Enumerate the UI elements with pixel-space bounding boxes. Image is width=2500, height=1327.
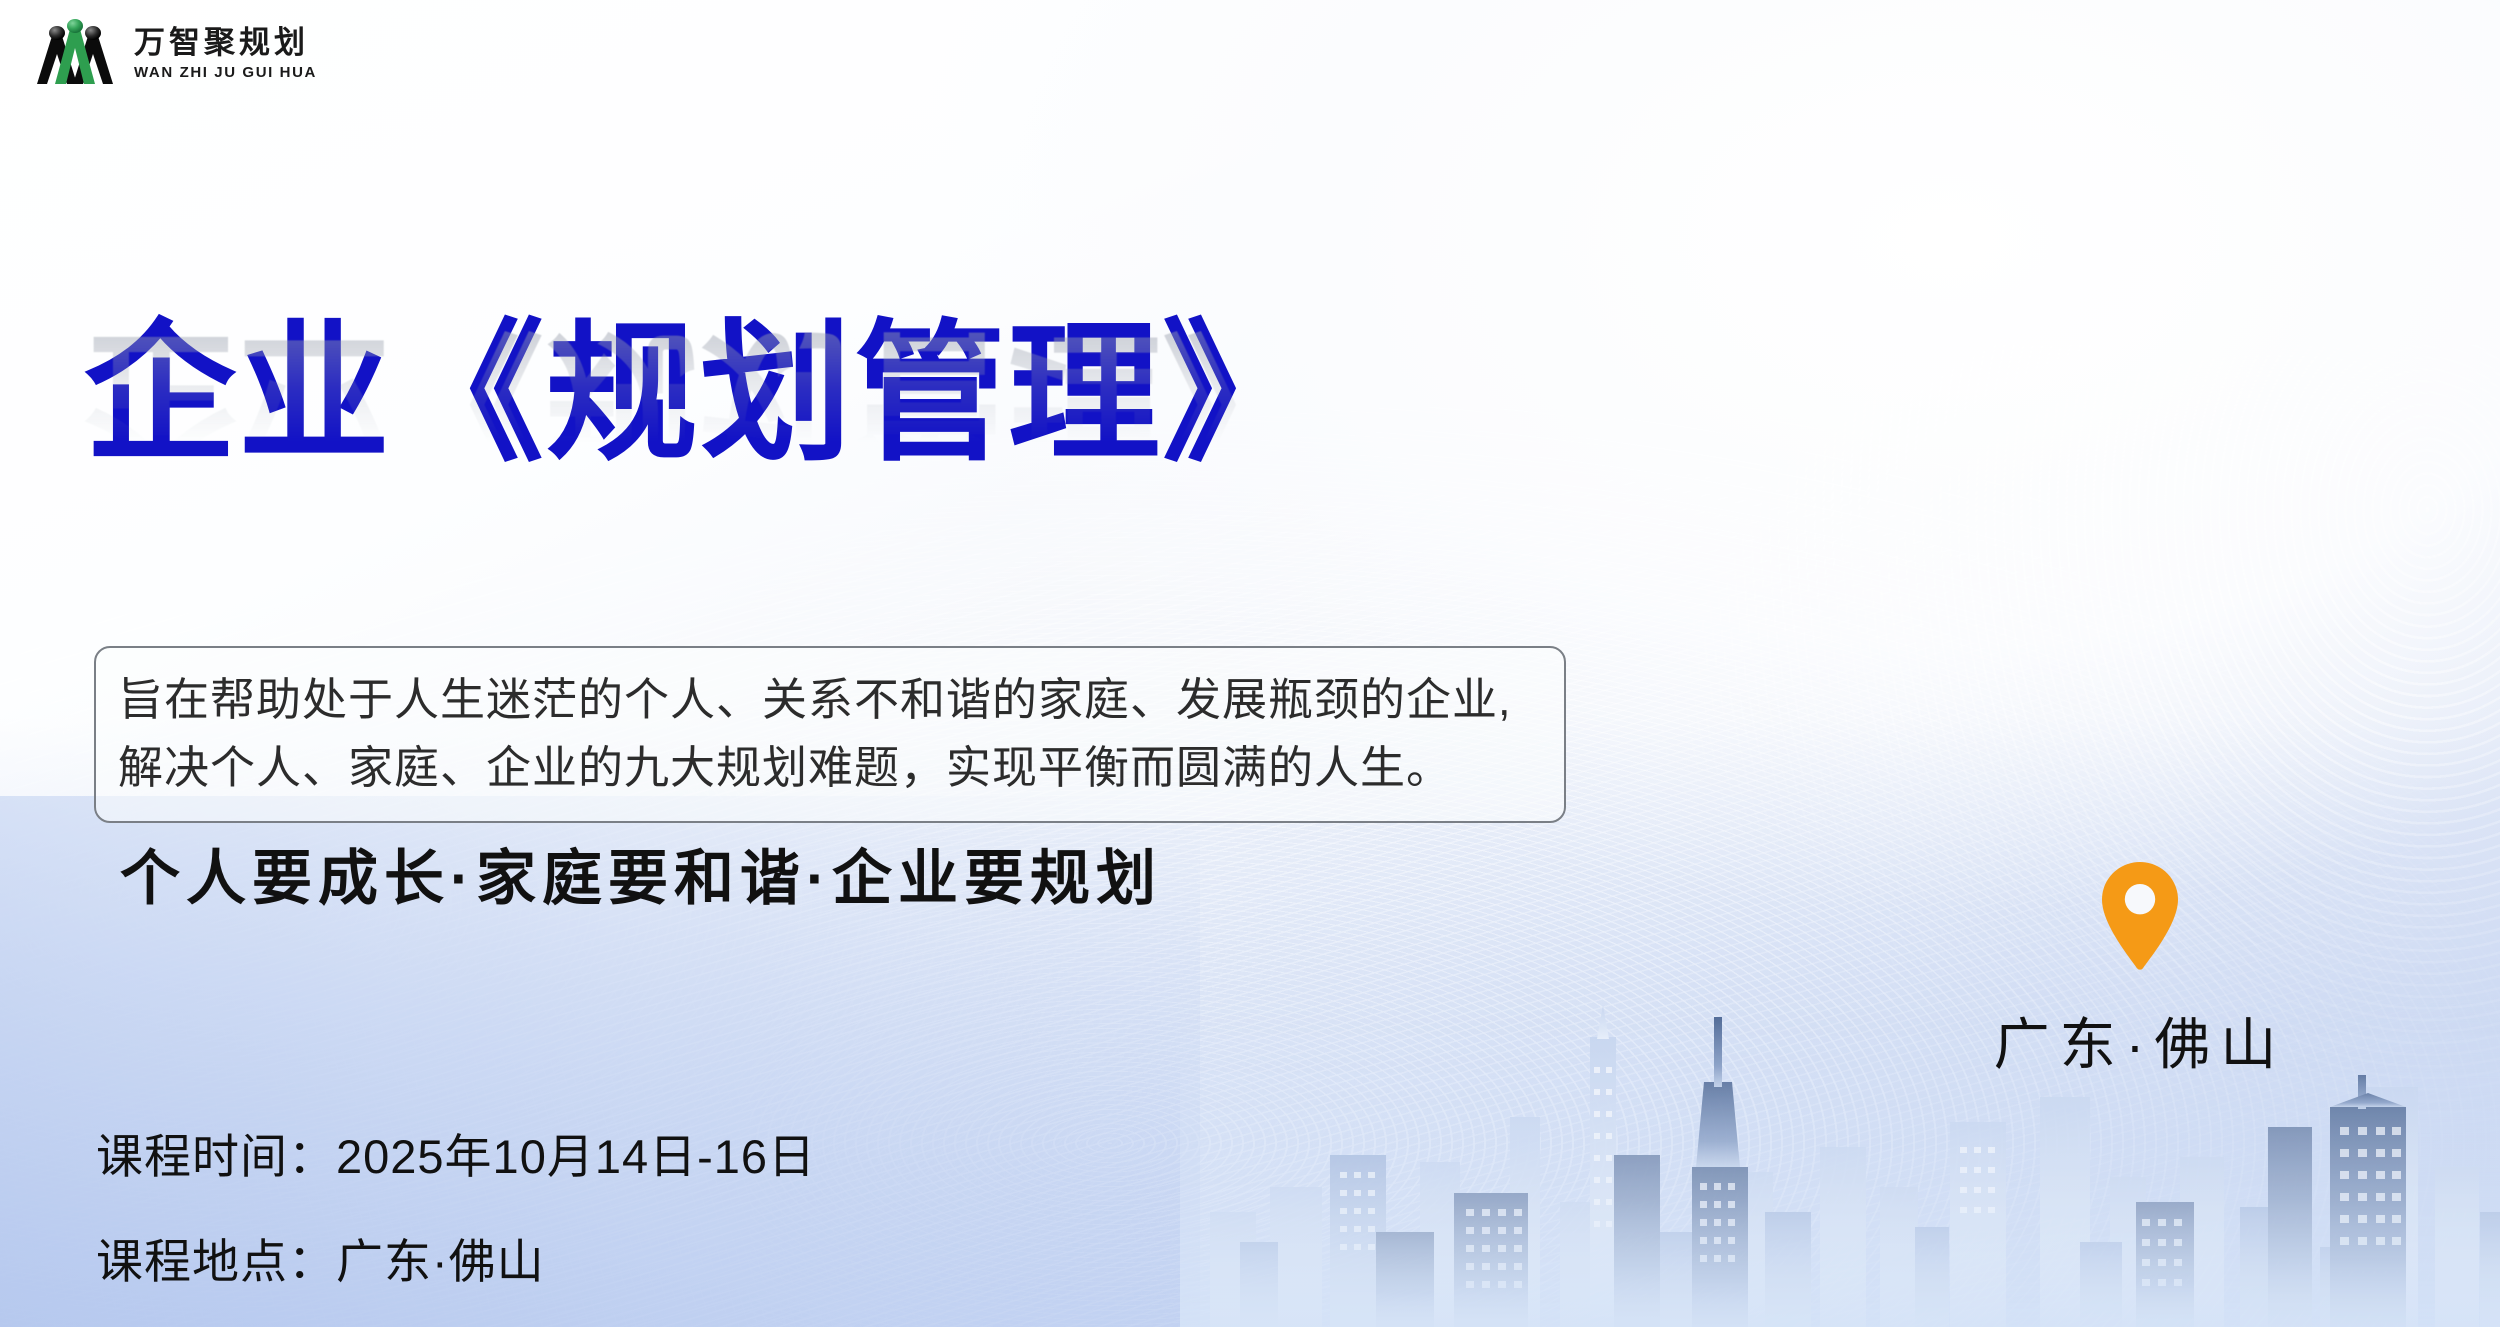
description-box: 旨在帮助处于人生迷茫的个人、关系不和谐的家庭、发展瓶颈的企业, 解决个人、家庭、… [94,646,1566,823]
brand-logo-text: 万智聚规划 WAN ZHI JU GUI HUA [134,27,317,80]
slogan-text: 个人要成长·家庭要和谐·企业要规划 [120,830,1162,917]
course-time-row: 课程时间：2025年10月14日-16日 [96,1118,816,1187]
brand-name-en: WAN ZHI JU GUI HUA [134,65,317,80]
description-line-1: 旨在帮助处于人生迷茫的个人、关系不和谐的家庭、发展瓶颈的企业, [118,666,1542,734]
course-info-block: 课程时间：2025年10月14日-16日 课程地点：广东·佛山 [96,1118,816,1292]
hero-title-block: 企业《规划管理》 企业《规划管理》 [84,316,1624,632]
description-line-2: 解决个人、家庭、企业的九大规划难题，实现平衡而圆满的人生。 [118,734,1542,802]
poster-canvas: 万智聚规划 WAN ZHI JU GUI HUA 企业《规划管理》 企业《规划管… [0,0,2500,1327]
map-pin-icon [2096,860,2184,976]
course-place-row: 课程地点：广东·佛山 [96,1223,816,1292]
three-people-logo-icon [30,18,120,88]
location-label: 广东·佛山 [1930,1000,2350,1081]
page-title-reflection: 企业《规划管理》 [84,322,1624,477]
brand-name-cn: 万智聚规划 [134,27,317,58]
location-block: 广东·佛山 [1930,860,2350,1081]
brand-logo: 万智聚规划 WAN ZHI JU GUI HUA [30,18,317,88]
